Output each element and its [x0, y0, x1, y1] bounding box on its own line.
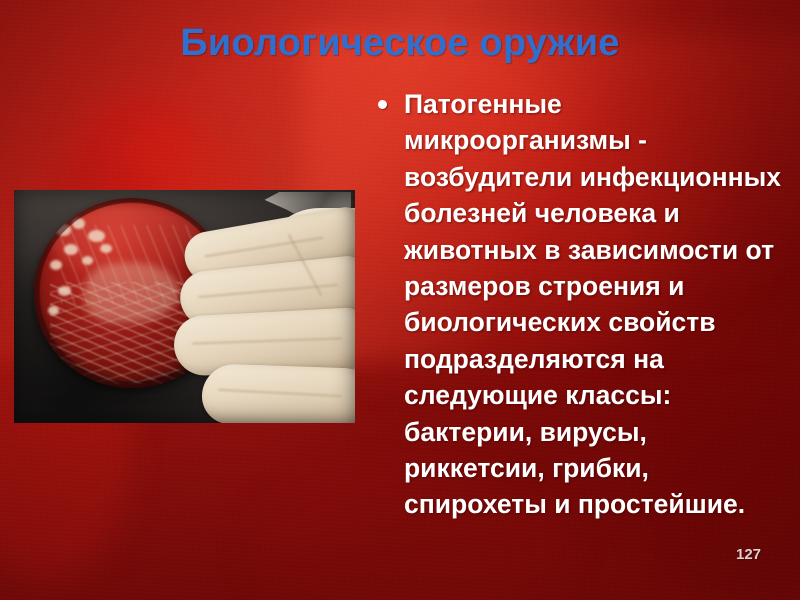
bullet-text: Патогенные микроорганизмы - возбудители … — [404, 86, 784, 523]
bullet-dot-icon — [378, 100, 387, 109]
body-content: Патогенные микроорганизмы - возбудители … — [378, 86, 784, 523]
presentation-slide: Биологическое оружие — [0, 0, 800, 600]
gloved-hand — [174, 194, 355, 423]
bullet-list-item: Патогенные микроорганизмы - возбудители … — [378, 86, 784, 523]
slide-number: 127 — [736, 546, 761, 563]
slide-title: Биологическое оружие — [0, 22, 800, 65]
blood-agar-petri-dish-photo — [14, 190, 355, 423]
